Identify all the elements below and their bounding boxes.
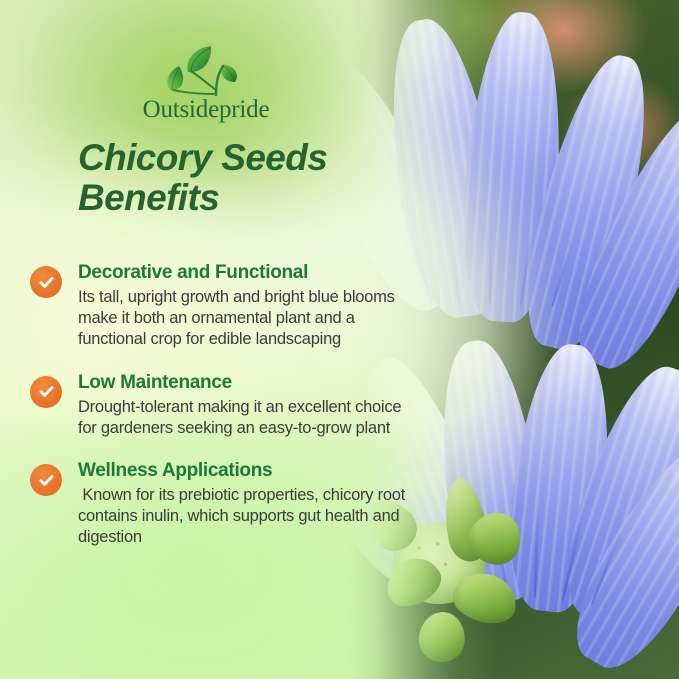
check-circle-icon [30,266,62,298]
page-title: Chicory Seeds Benefits [78,138,398,218]
check-circle-icon [30,464,62,496]
benefit-item: Decorative and Functional Its tall, upri… [30,262,420,350]
benefit-title: Wellness Applications [78,460,420,482]
brand-name: Outsidepride [141,97,271,122]
three-leaf-sprig-icon [161,44,251,96]
infographic-canvas: Outsidepride Chicory Seeds Benefits Deco… [0,0,679,679]
benefit-item: Low Maintenance Drought-tolerant making … [30,372,420,439]
check-circle-icon [30,376,62,408]
benefit-item: Wellness Applications Known for its preb… [30,460,420,548]
brand-logo: Outsidepride [141,44,271,122]
benefit-body: Drought-tolerant making it an excellent … [78,397,408,439]
benefit-title: Low Maintenance [78,372,420,394]
benefit-title: Decorative and Functional [78,262,420,284]
benefit-body: Known for its prebiotic properties, chic… [78,485,408,548]
benefit-body: Its tall, upright growth and bright blue… [78,287,408,350]
benefits-list: Decorative and Functional Its tall, upri… [30,262,420,570]
